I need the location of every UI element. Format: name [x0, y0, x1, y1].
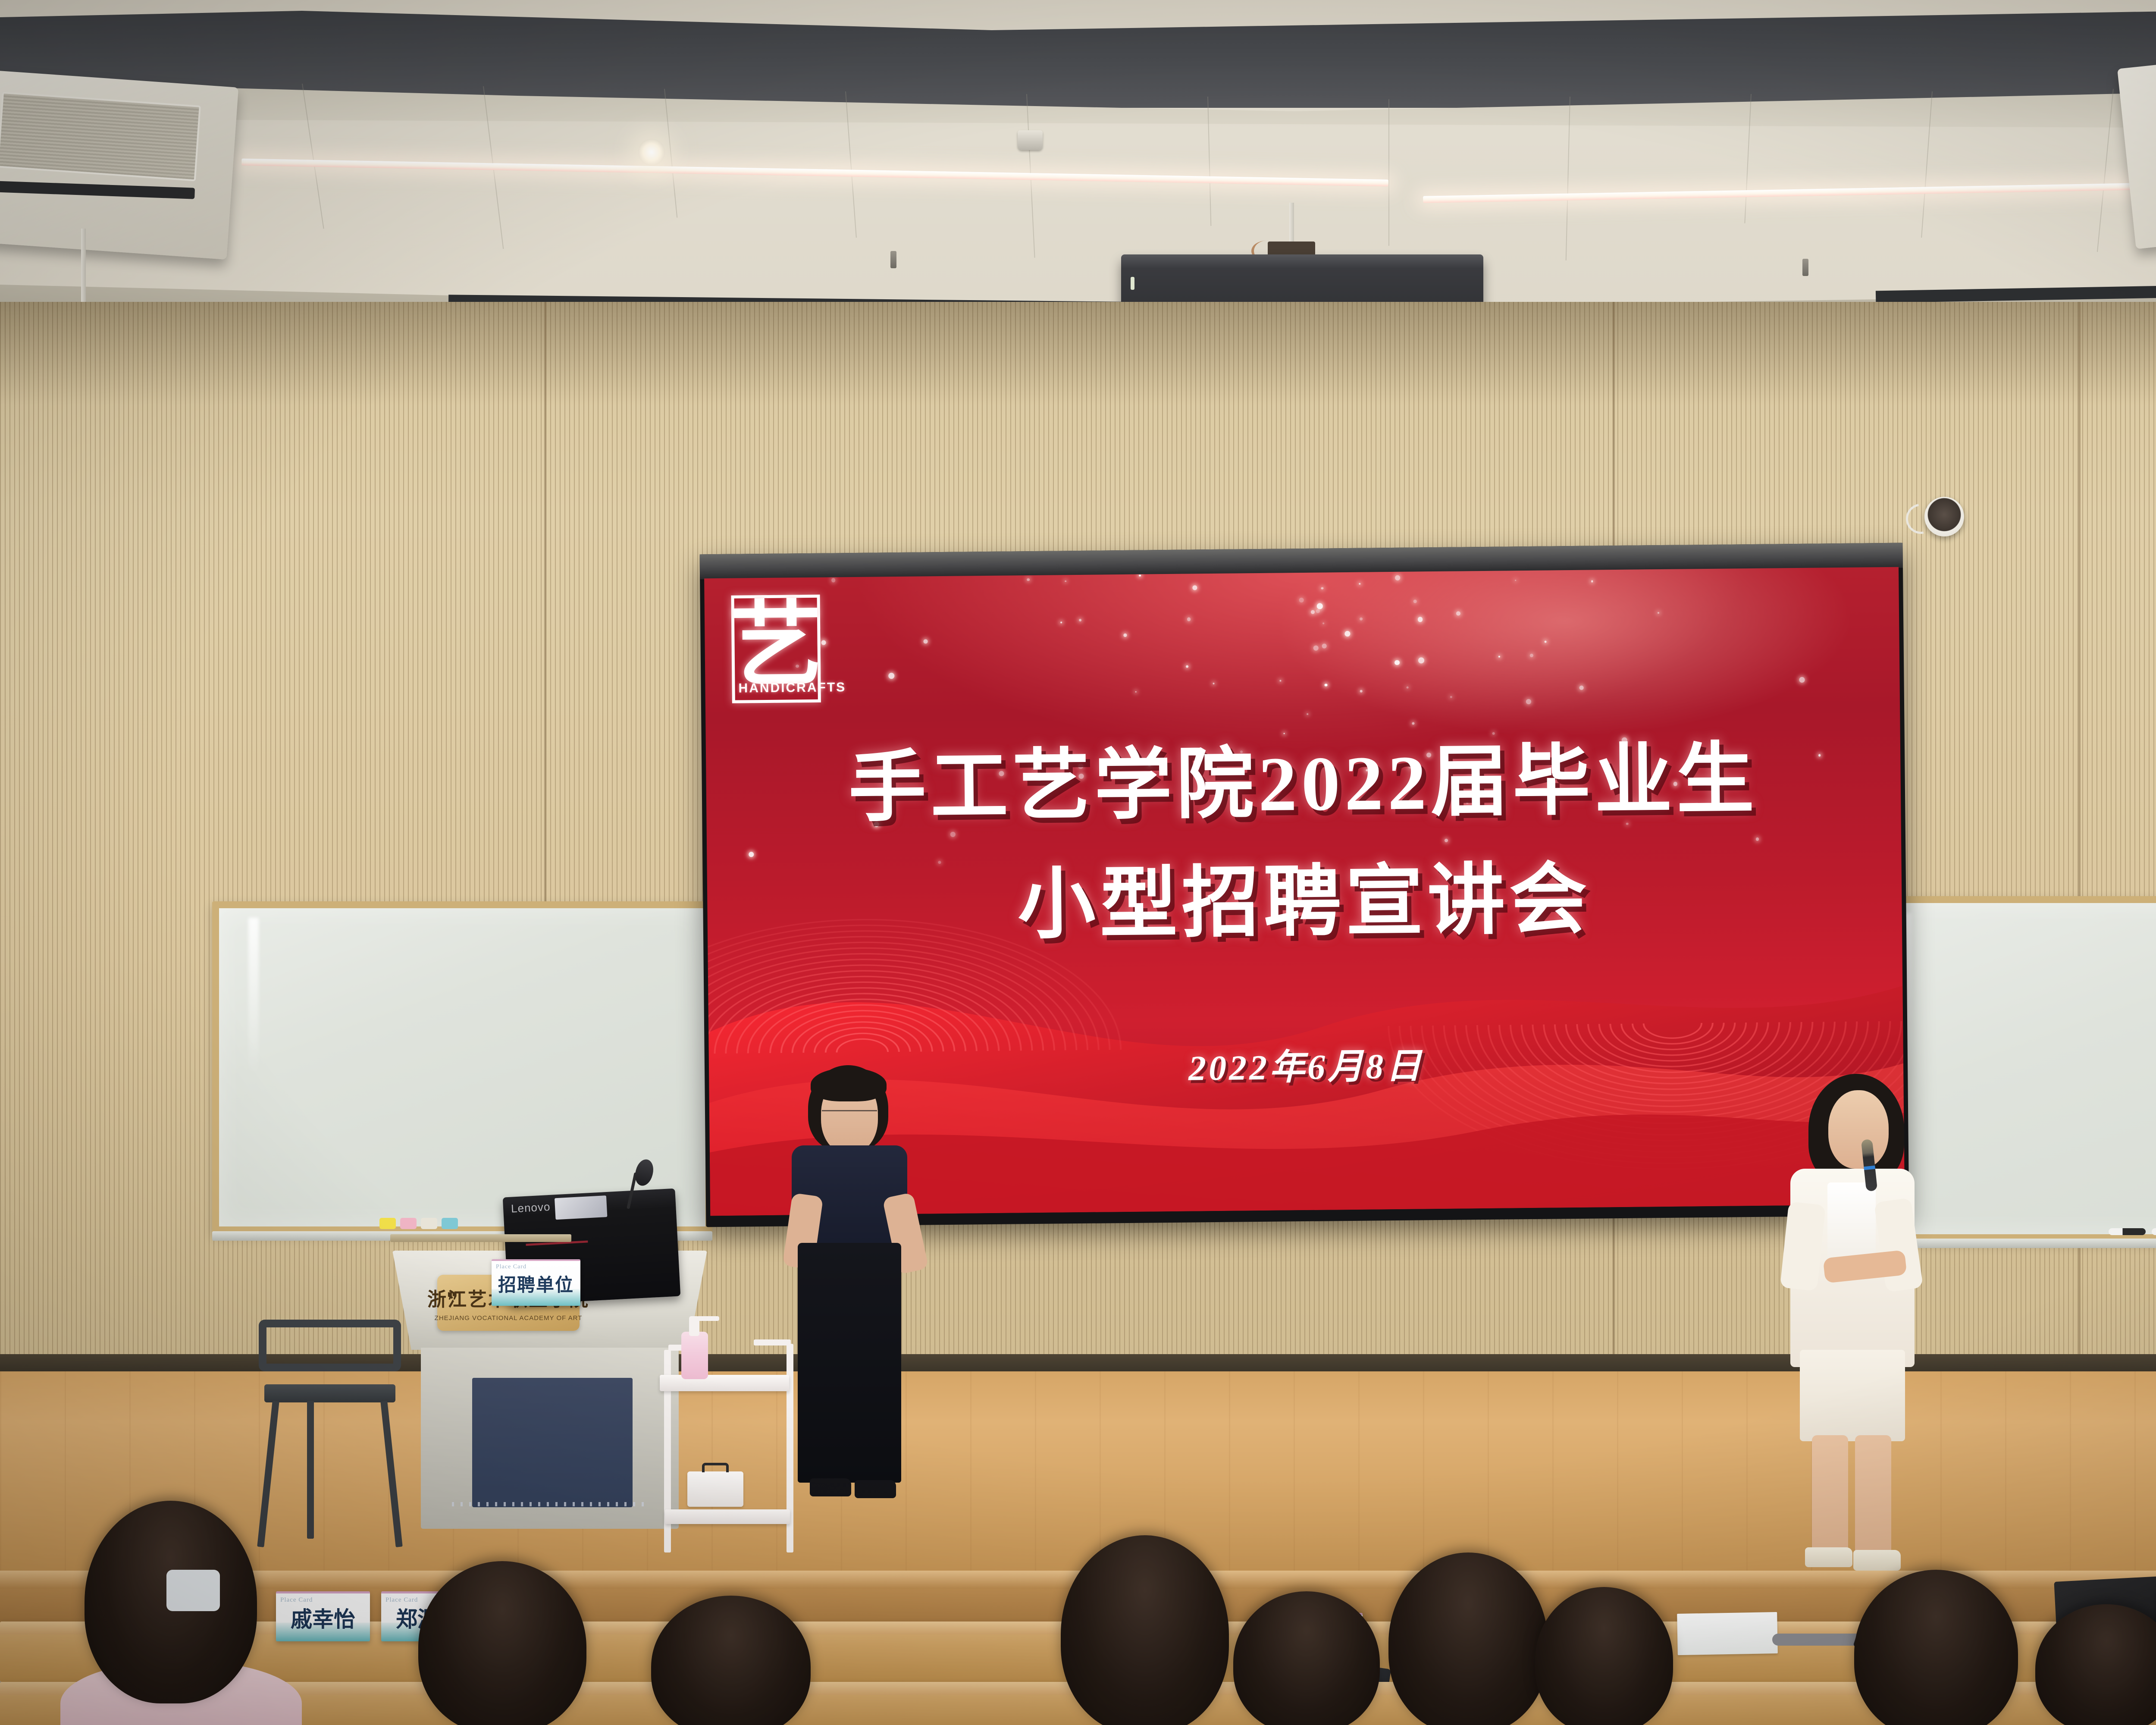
screen-title-line2: 小型招聘宣讲会	[707, 851, 1902, 954]
nameplate-1: Place Card 戚幸怡	[276, 1591, 370, 1641]
audience-head-5	[1233, 1591, 1380, 1725]
table-card-subtext: Place Card	[496, 1264, 526, 1270]
podium-vent-strip	[452, 1502, 648, 1506]
wall-seam-c	[2078, 302, 2081, 1479]
nameplate-1-name: 戚幸怡	[291, 1602, 355, 1633]
marker-yellow	[379, 1218, 396, 1229]
presenter-left-fringe	[811, 1068, 887, 1101]
presenter-left-shoe-l	[810, 1478, 851, 1496]
supply-box[interactable]	[687, 1471, 743, 1507]
audience-head-7	[1535, 1587, 1673, 1725]
ac-cassette-left	[0, 66, 238, 260]
marker-cyan	[442, 1218, 458, 1229]
logo-glyph: 艺	[729, 606, 823, 686]
trolley-bottom-shelf	[665, 1509, 790, 1524]
side-chair[interactable]	[259, 1320, 401, 1552]
screen-title-block: 手工艺学院2022届毕业生 小型招聘宣讲会	[706, 733, 1902, 954]
presenter-left	[776, 1065, 931, 1522]
monitor-asset-sticker	[555, 1195, 607, 1220]
plaque-english-name: ZHEJIANG VOCATIONAL ACADEMY OF ART	[435, 1314, 583, 1322]
handicrafts-logo: 艺 HANDICRAFTS	[731, 595, 821, 703]
ceiling-downlight-left	[638, 139, 665, 166]
presenter-right	[1764, 1074, 1927, 1574]
presenter-right-inner-top	[1827, 1182, 1876, 1264]
ac-grill-left	[0, 92, 201, 182]
nameplate-1-sub: Place Card	[280, 1596, 313, 1604]
microphone-ring	[1864, 1166, 1875, 1170]
hand-sanitizer-bottle[interactable]	[681, 1332, 708, 1379]
lenovo-brand-label: Lenovo	[511, 1200, 551, 1216]
recruiter-table-card: Place Card 招聘单位	[492, 1259, 580, 1306]
open-notebook[interactable]	[1677, 1612, 1778, 1655]
marker-white	[421, 1218, 437, 1229]
chair-leg-1	[257, 1401, 279, 1547]
smoke-detector-icon	[1018, 130, 1043, 150]
chair-seat	[264, 1384, 395, 1402]
presenter-right-shoe-r	[1853, 1550, 1901, 1571]
nameplate-2-sub: Place Card	[385, 1596, 418, 1604]
speaker-mount-rod-left	[81, 229, 86, 310]
wall-ledge	[390, 1234, 571, 1242]
whiteboard-left-markers	[379, 1218, 458, 1229]
marker-black-right	[2109, 1228, 2146, 1235]
speaker-led-center	[1131, 277, 1134, 290]
audience-head-6	[1388, 1552, 1548, 1725]
sanitizer-nozzle	[697, 1316, 719, 1321]
presenter-left-glasses	[822, 1110, 877, 1111]
marker-pink	[400, 1218, 417, 1229]
sprinkler-head-right-icon	[1802, 259, 1808, 276]
marker-dark-right	[2152, 1228, 2156, 1235]
chair-leg-3	[307, 1401, 314, 1539]
logo-caption: HANDICRAFTS	[738, 680, 846, 696]
sprinkler-head-icon	[890, 251, 896, 268]
supply-box-handle[interactable]	[702, 1463, 729, 1472]
chair-backrest	[259, 1320, 401, 1371]
screen-title-line1: 手工艺学院2022届毕业生	[706, 733, 1901, 836]
whiteboard-left-glare	[248, 918, 259, 1077]
dome-camera-icon	[1924, 497, 1964, 536]
lecture-hall-photo: 艺 HANDICRAFTS 手工艺学院2022届毕业生 小型招聘宣讲会 2022…	[0, 0, 2156, 1725]
presenter-right-leg-l	[1812, 1435, 1848, 1552]
audience-1-face-mask	[166, 1570, 220, 1611]
presenter-right-head	[1828, 1090, 1889, 1169]
podium-column	[421, 1348, 679, 1529]
presenter-left-skirt	[798, 1243, 901, 1483]
audience-head-2	[418, 1561, 586, 1725]
table-card-text: 招聘单位	[498, 1270, 574, 1297]
presenter-left-shoe-r	[855, 1480, 896, 1498]
wall-top-shadow	[0, 302, 2156, 405]
podium-front-panel	[472, 1378, 632, 1507]
presenter-right-shoe-l	[1805, 1547, 1852, 1567]
audience-head-4	[1061, 1535, 1229, 1725]
presenter-right-shorts	[1800, 1350, 1905, 1441]
presenter-right-leg-r	[1855, 1435, 1891, 1555]
trolley-top-shelf	[660, 1375, 789, 1391]
bird-logo-icon: ❞	[447, 1290, 473, 1316]
